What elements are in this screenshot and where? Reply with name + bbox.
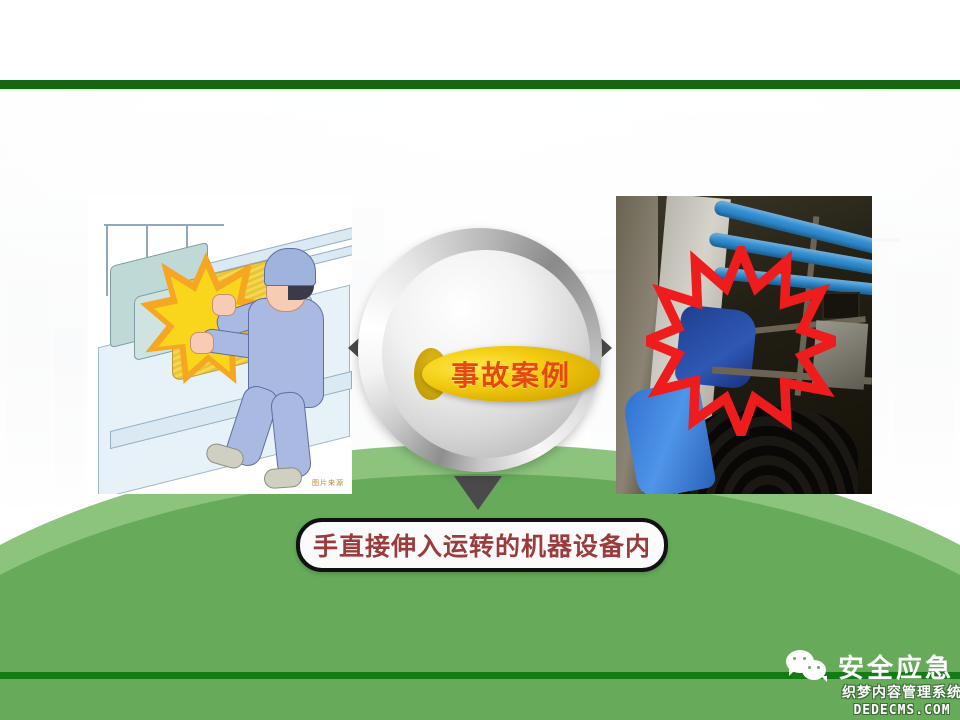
cartoon-scene: 图片来源 [88, 196, 352, 494]
wechat-bubble-tail [821, 676, 827, 682]
presentation-slide: 图片来源 [0, 0, 960, 720]
top-accent-glow [0, 89, 960, 92]
badge-inner-disc: 事故案例 [382, 250, 590, 458]
accident-illustration-left[interactable]: 图片来源 [88, 196, 352, 494]
badge-label: 事故案例 [451, 354, 571, 394]
rail-shape [104, 224, 224, 226]
wechat-dot [803, 657, 806, 660]
worker-hand [212, 294, 236, 316]
safety-helmet-icon [264, 248, 316, 286]
watermark-chinese: 织梦内容管理系统 [842, 682, 960, 702]
illustration-credit: 图片来源 [312, 478, 344, 488]
red-starburst-icon [646, 246, 836, 436]
wechat-dot [793, 657, 796, 660]
brand-name: 安全应急 [838, 648, 954, 685]
watermark-english: DEDECMS.COM [842, 703, 960, 718]
badge-metal-ring: 事故案例 [358, 228, 602, 472]
wechat-dot [817, 666, 820, 669]
industrial-scene [616, 196, 872, 494]
caption-pill: 手直接伸入运转的机器设备内 [296, 518, 668, 572]
accident-photo-right[interactable] [616, 196, 872, 494]
rail-shape [106, 226, 108, 296]
worker-hand [190, 332, 214, 354]
worker-shoe [263, 467, 302, 490]
arrow-down-icon [454, 476, 502, 510]
top-accent-bar [0, 80, 960, 89]
badge-gold-ellipse: 事故案例 [422, 346, 600, 402]
wechat-dot [808, 666, 811, 669]
caption-text: 手直接伸入运转的机器设备内 [313, 527, 651, 563]
wechat-brand-block: 安全应急 [786, 648, 954, 685]
dedecms-watermark: 织梦内容管理系统 DEDECMS.COM [842, 682, 960, 718]
wechat-bubble-tail [789, 669, 796, 676]
wechat-icon [786, 650, 828, 684]
accident-case-badge[interactable]: 事故案例 [352, 224, 608, 504]
